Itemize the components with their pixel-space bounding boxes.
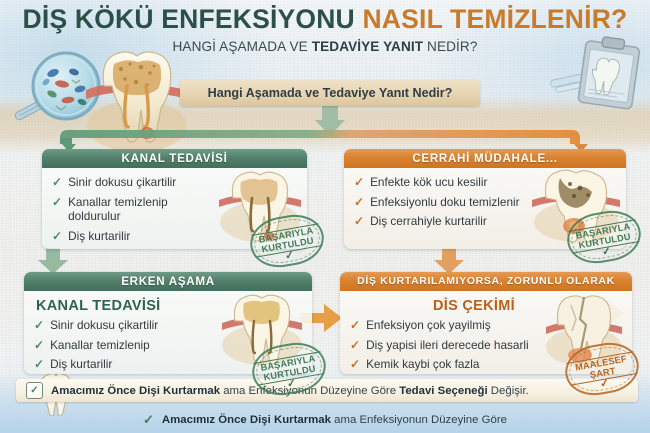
check-icon: ✓ [52, 176, 62, 189]
panel-early-stage-bullets: ✓Sinir dokusu çikartilir ✓Kanallar temiz… [34, 318, 199, 372]
bullet-text: Kanallar temizlenip [50, 338, 150, 353]
panel-surgery-header-text: CERRAHİ MÜDAHALE... [412, 152, 557, 165]
infographic-root: DİŞ KÖKÜ ENFEKSİYONU NASIL TEMİZLENİR? H… [0, 0, 650, 433]
footer-secondary-text: Amacımız Önce Dişi Kurtarmak ama Enfeksi… [162, 414, 507, 426]
panel-early-stage: ERKEN AŞAMA KANAL TEDAVİSİ ✓Sinir dokusu… [24, 272, 312, 374]
check-icon: ✓ [354, 176, 364, 189]
panel-root-canal-bullets: ✓Sinir dokusu çikartilir ✓Kanallar temiz… [52, 175, 212, 244]
panel-surgery: CERRAHİ MÜDAHALE... ✓Enfekte kök ucu kes… [344, 149, 626, 249]
check-icon: ✓ [52, 230, 62, 243]
bullet-text: Enfeksiyon çok yayilmiş [366, 318, 491, 333]
check-icon: ✓ [354, 196, 364, 209]
panel-early-stage-header-text: ERKEN AŞAMA [121, 275, 215, 288]
title-line-2-bold: TEDAVİYE YANIT [312, 39, 423, 54]
tooth-root-canal-illustration [217, 170, 303, 244]
check-icon: ✓ [350, 339, 360, 352]
check-icon: ✓ [34, 358, 44, 371]
list-item: ✓Enfeksiyon çok yayilmiş [350, 318, 550, 333]
list-item: ✓Kemik kaybi çok fazla [350, 357, 550, 372]
footer-primary-text: Amacımız Önce Dişi Kurtarmak ama Enfeksi… [51, 385, 529, 397]
check-icon: ✓ [350, 319, 360, 332]
panel-early-stage-body: KANAL TEDAVİSİ ✓Sinir dokusu çikartilir … [24, 291, 312, 374]
footer-banner-secondary: ✓ Amacımız Önce Dişi Kurtarmak ama Enfek… [0, 406, 650, 433]
title-line-2: HANGİ AŞAMADA VE TEDAVİYE YANIT NEDİR? [0, 39, 650, 54]
list-item: ✓Sinir dokusu çikartilir [52, 175, 212, 190]
tooth-apicoectomy-illustration [530, 168, 622, 244]
bullet-text: Sinir dokusu çikartilir [50, 318, 158, 333]
panel-early-stage-header: ERKEN AŞAMA [24, 272, 312, 291]
panel-root-canal: KANAL TEDAVİSİ ✓Sinir dokusu çikartilir … [42, 149, 307, 249]
title-line-1-accent: NASIL TEMİZLENİR? [362, 4, 627, 34]
question-banner: Hangi Aşamada ve Tedaviye Yanıt Nedir? [180, 80, 480, 106]
title-line-1: DİŞ KÖKÜ ENFEKSİYONU NASIL TEMİZLENİR? [0, 6, 650, 34]
list-item: ✓Diş kurtarilir [52, 229, 212, 244]
footer-secondary-plain-a: ama Enfeksiyonun Düzeyine Göre [331, 414, 507, 426]
connector-split-top [60, 106, 590, 152]
panel-extraction-header: DİŞ KURTARILAMIYORSA, ZORUNLU OLARAK [340, 272, 632, 291]
list-item: ✓Diş cerrahiyle kurtarilir [354, 214, 524, 229]
footer-check-icon: ✓ [143, 412, 154, 428]
list-item: ✓Diş kurtarilir [34, 357, 199, 372]
list-item: ✓Diş yapisi ileri derecede hasarli [350, 338, 550, 353]
connector-arrow-left-down [36, 248, 70, 274]
panel-extraction-bullets: ✓Enfeksiyon çok yayilmiş ✓Diş yapisi ile… [350, 318, 550, 372]
check-icon: ✓ [34, 319, 44, 332]
connector-arrow-right-down [432, 248, 466, 274]
panel-surgery-body: ✓Enfekte kök ucu kesilir ✓Enfeksiyonlu d… [344, 168, 626, 249]
panel-root-canal-header: KANAL TEDAVİSİ [42, 149, 307, 168]
list-item: ✓Enfeksiyonlu doku temizlenir [354, 195, 524, 210]
footer-primary-plain-a: ama Enfeksiyonun Düzeyine Göre [220, 385, 399, 397]
bullet-text: Enfekte kök ucu kesilir [370, 175, 487, 190]
bullet-text: Kemik kaybi çok fazla [366, 357, 479, 372]
list-item: ✓Sinir dokusu çikartilir [34, 318, 199, 333]
panel-extraction: DİŞ KURTARILAMIYORSA, ZORUNLU OLARAK DİS… [340, 272, 632, 374]
panel-extraction-header-text: DİŞ KURTARILAMIYORSA, ZORUNLU OLARAK [357, 276, 615, 287]
panel-early-stage-subtitle: KANAL TEDAVİSİ [36, 298, 304, 314]
footer-banner-primary: ✓ Amacımız Önce Dişi Kurtarmak ama Enfek… [16, 379, 638, 402]
panel-root-canal-body: ✓Sinir dokusu çikartilir ✓Kanallar temiz… [42, 168, 307, 249]
list-item: ✓Kanallar temizlenip doldurulur [52, 195, 212, 224]
page-title: DİŞ KÖKÜ ENFEKSİYONU NASIL TEMİZLENİR? H… [0, 6, 650, 54]
bullet-text: Diş kurtarilir [68, 229, 130, 244]
bullet-text: Diş kurtarilir [50, 357, 112, 372]
question-banner-text: Hangi Aşamada ve Tedaviye Yanıt Nedir? [208, 86, 453, 100]
panel-root-canal-header-text: KANAL TEDAVİSİ [122, 152, 228, 165]
panel-surgery-bullets: ✓Enfekte kök ucu kesilir ✓Enfeksiyonlu d… [354, 175, 524, 229]
list-item: ✓Kanallar temizlenip [34, 338, 199, 353]
bullet-text: Sinir dokusu çikartilir [68, 175, 176, 190]
footer-primary-plain-b: Değişir. [488, 385, 529, 397]
check-icon: ✓ [354, 215, 364, 228]
panel-surgery-header: CERRAHİ MÜDAHALE... [344, 149, 626, 168]
title-line-2-plain-a: HANGİ AŞAMADA VE [172, 39, 307, 54]
bullet-text: Enfeksiyonlu doku temizlenir [370, 195, 520, 210]
footer-secondary-bold-a: Amacımız Önce Dişi Kurtarmak [162, 414, 331, 426]
check-icon: ✓ [52, 196, 62, 209]
footer-check-box-icon: ✓ [26, 382, 43, 399]
panel-extraction-body: DİS ÇEKİMİ ✓Enfeksiyon çok yayilmiş ✓Diş… [340, 291, 632, 374]
bullet-text: Diş yapisi ileri derecede hasarli [366, 338, 529, 353]
title-line-2-plain-b: NEDİR? [427, 39, 477, 54]
footer-primary-bold-b: Tedavi Seçeneği [399, 385, 487, 397]
list-item: ✓Enfekte kök ucu kesilir [354, 175, 524, 190]
bullet-text: Diş cerrahiyle kurtarilir [370, 214, 487, 229]
footer-primary-bold-a: Amacımız Önce Dişi Kurtarmak [51, 385, 220, 397]
title-line-1-dark: DİŞ KÖKÜ ENFEKSİYONU [23, 4, 355, 34]
bullet-text: Kanallar temizlenip doldurulur [68, 195, 212, 224]
check-icon: ✓ [34, 339, 44, 352]
check-icon: ✓ [350, 358, 360, 371]
panel-extraction-subtitle: DİS ÇEKİMİ [352, 298, 596, 314]
